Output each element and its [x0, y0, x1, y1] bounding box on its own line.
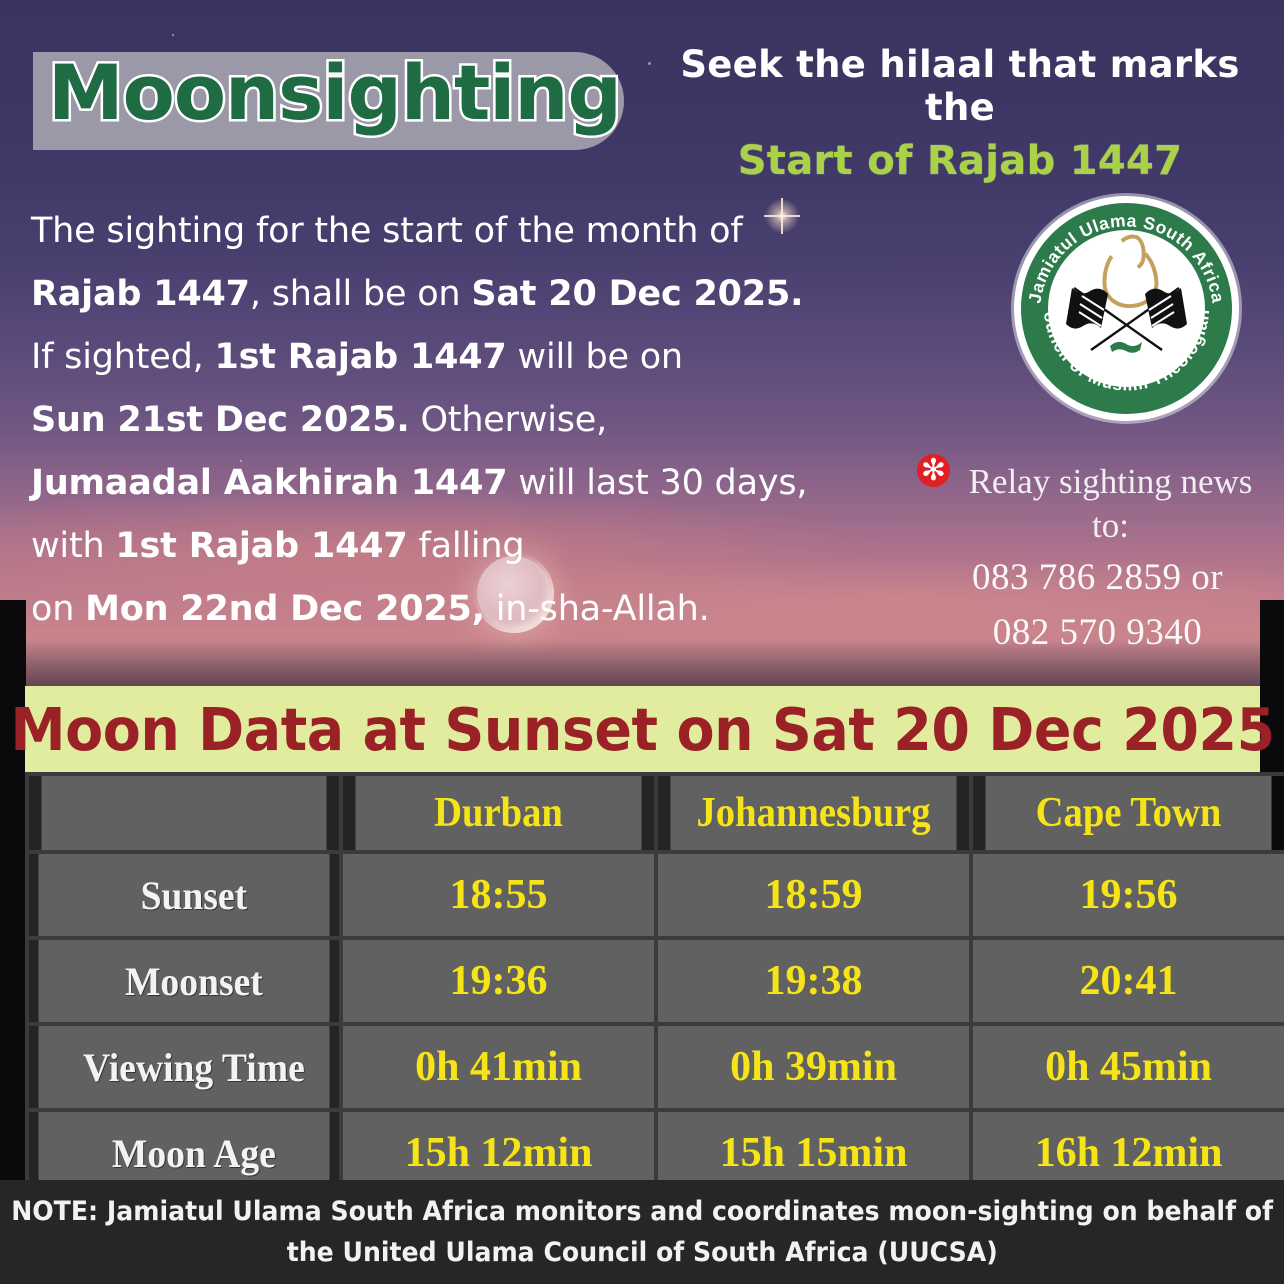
announcement-line-2: Rajab 1447, shall be on Sat 20 Dec 2025. [31, 263, 891, 326]
column-header-label: Cape Town [1036, 790, 1222, 836]
cell-value: 19:38 [765, 958, 863, 1004]
table-row: Viewing Time0h 41min0h 39min0h 45min [27, 1024, 1284, 1110]
text-run: will last 30 days, [507, 463, 807, 503]
moonsighting-poster: Moonsighting Seek the hilaal that marks … [0, 0, 1284, 1284]
footer-line-1: NOTE: Jamiatul Ulama South Africa monito… [11, 1191, 1273, 1232]
contact-label: Relay sighting news to: [925, 460, 1270, 548]
text-run-bold: Jumaadal Aakhirah 1447 [31, 463, 507, 503]
table-row: Moonset19:3619:3820:41 [27, 938, 1284, 1024]
headline-line-2: Start of Rajab 1447 [660, 138, 1260, 184]
text-run: in-sha-Allah. [485, 589, 710, 629]
table-cell: 19:36 [341, 938, 656, 1024]
cell-value: 18:55 [450, 872, 548, 918]
headline-line-1: Seek the hilaal that marks the [660, 44, 1260, 129]
cell-value: 20:41 [1080, 958, 1178, 1004]
table-cell: 19:38 [656, 938, 971, 1024]
text-run-bold: Rajab 1447 [31, 274, 250, 314]
announcement-line-4: Sun 21st Dec 2025. Otherwise, [31, 389, 891, 452]
table-header-row: DurbanJohannesburgCape Town [27, 774, 1284, 852]
announcement-line-3: If sighted, 1st Rajab 1447 will be on [31, 326, 891, 389]
footer-note: NOTE: Jamiatul Ulama South Africa monito… [0, 1180, 1284, 1284]
jamiatul-ulama-logo: Jamiatul Ulama South Africa Council of M… [1014, 196, 1239, 421]
table-column-header-cape-town: Cape Town [984, 774, 1274, 852]
cell-value: 18:59 [765, 872, 863, 918]
cell-value: 15h 12min [405, 1130, 593, 1176]
cell-value: 19:56 [1080, 872, 1178, 918]
moon-data-banner-title: Moon Data at Sunset on Sat 20 Dec 2025 [10, 695, 1274, 764]
text-run: will be on [507, 337, 683, 377]
text-run: The sighting for the start of the month … [31, 211, 743, 251]
cell-value: 0h 39min [730, 1044, 897, 1090]
announcement-line-6: with 1st Rajab 1447 falling [31, 515, 891, 578]
cell-value: 0h 41min [415, 1044, 582, 1090]
announcement-line-7: on Mon 22nd Dec 2025, in-sha-Allah. [31, 578, 891, 641]
table-corner-cell [40, 774, 329, 852]
text-run-bold: 1st Rajab 1447 [115, 526, 407, 566]
text-run: falling [408, 526, 525, 566]
text-run: , shall be on [250, 274, 472, 314]
contact-phone-1[interactable]: 083 786 2859 or [925, 552, 1270, 604]
star-icon [648, 62, 651, 65]
cell-value: 15h 15min [720, 1130, 908, 1176]
page-title: Moonsighting [48, 48, 621, 137]
headline-block: Seek the hilaal that marks the Start of … [660, 44, 1260, 184]
column-header-label: Durban [434, 790, 563, 836]
cell-value: 16h 12min [1035, 1130, 1223, 1176]
row-label-moonset: Moonset [36, 938, 331, 1024]
star-icon [172, 34, 174, 36]
text-run: on [31, 589, 85, 629]
text-run-bold: Sat 20 Dec 2025. [471, 274, 803, 314]
text-run: with [31, 526, 115, 566]
text-run: If sighted, [31, 337, 214, 377]
moon-data-banner: Moon Data at Sunset on Sat 20 Dec 2025 [25, 686, 1260, 772]
text-run: Otherwise, [410, 400, 608, 440]
moon-data-table: DurbanJohannesburgCape TownSunset18:5518… [25, 772, 1284, 1198]
table-column-header-durban: Durban [354, 774, 644, 852]
column-header-label: Johannesburg [696, 790, 930, 836]
table-cell: 20:41 [971, 938, 1284, 1024]
contact-block: ✻ Relay sighting news to: 083 786 2859 o… [925, 460, 1270, 659]
table-cell: 19:56 [971, 852, 1284, 938]
contact-phone-2[interactable]: 082 570 9340 [925, 607, 1270, 659]
table-cell: 0h 39min [656, 1024, 971, 1110]
cell-value: 0h 45min [1045, 1044, 1212, 1090]
footer-line-2: the United Ulama Council of South Africa… [287, 1232, 998, 1273]
text-run-bold: Sun 21st Dec 2025. [31, 400, 410, 440]
announcement-line-1: The sighting for the start of the month … [31, 200, 891, 263]
announcement-line-5: Jumaadal Aakhirah 1447 will last 30 days… [31, 452, 891, 515]
announcement-text: The sighting for the start of the month … [31, 200, 891, 641]
cell-value: 19:36 [450, 958, 548, 1004]
table-cell: 18:59 [656, 852, 971, 938]
table-cell: 0h 45min [971, 1024, 1284, 1110]
table-cell: 0h 41min [341, 1024, 656, 1110]
asterisk-icon: ✻ [917, 454, 950, 487]
row-label-viewing-time: Viewing Time [36, 1024, 331, 1110]
table-column-header-johannesburg: Johannesburg [669, 774, 959, 852]
text-run-bold: 1st Rajab 1447 [214, 337, 506, 377]
table-row: Sunset18:5518:5919:56 [27, 852, 1284, 938]
logo-crossed-flags-icon [1066, 284, 1187, 356]
row-label-sunset: Sunset [36, 852, 331, 938]
table-cell: 18:55 [341, 852, 656, 938]
text-run-bold: Mon 22nd Dec 2025, [85, 589, 485, 629]
